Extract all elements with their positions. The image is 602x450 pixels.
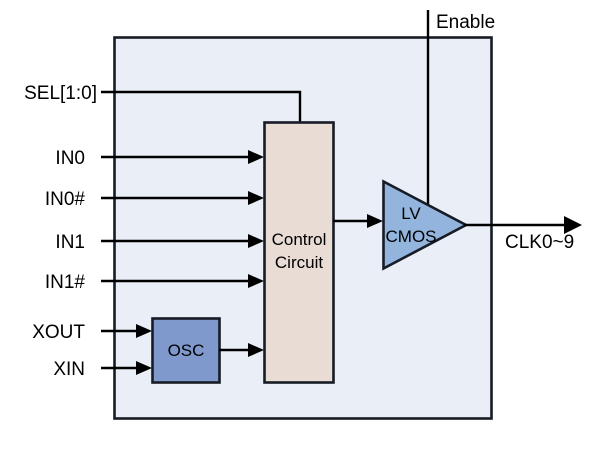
port-label-in0n: IN0# — [45, 189, 86, 210]
port-label-in0: IN0 — [55, 148, 85, 169]
port-label-enable: Enable — [436, 12, 495, 33]
port-label-xin: XIN — [53, 359, 85, 380]
port-label-clk-output: CLK0~9 — [505, 232, 574, 253]
port-label-sel: SEL[1:0] — [24, 83, 97, 104]
port-label-in1: IN1 — [55, 232, 85, 253]
lvcmos-driver-label-line2: CMOS — [386, 227, 437, 246]
port-label-xout: XOUT — [32, 322, 85, 343]
control-circuit-label-line1: Control — [272, 230, 327, 249]
port-label-in1n: IN1# — [45, 272, 86, 293]
lvcmos-driver-label-line1: LV — [401, 204, 421, 223]
block-diagram-canvas: OSC Control Circuit LV CMOS SEL[1:0] IN0… — [0, 0, 602, 450]
control-circuit-label-line2: Circuit — [275, 253, 323, 272]
oscillator-label: OSC — [168, 341, 205, 360]
block-diagram-svg: OSC Control Circuit LV CMOS SEL[1:0] IN0… — [0, 0, 602, 450]
